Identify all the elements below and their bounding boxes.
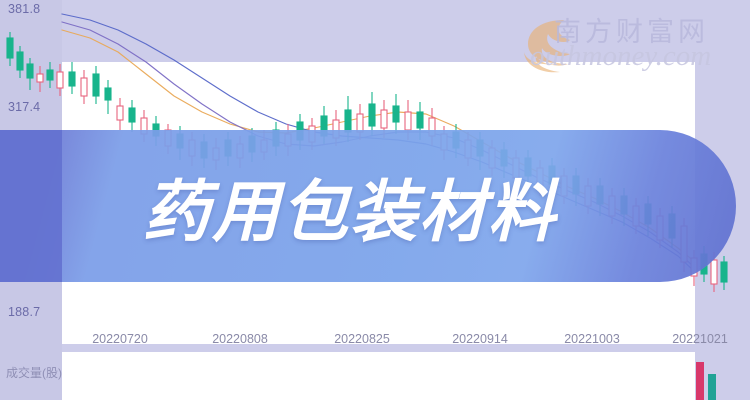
candle xyxy=(57,64,63,96)
candle xyxy=(93,66,99,104)
volume-bar xyxy=(708,374,716,400)
y-tick-label-0: 381.8 xyxy=(8,2,40,16)
x-tick-label-3: 20220914 xyxy=(452,332,508,346)
candle xyxy=(7,32,13,66)
x-tick-label-5: 20221021 xyxy=(672,332,728,346)
x-tick-label-2: 20220825 xyxy=(334,332,390,346)
y-tick-label-3: 188.7 xyxy=(8,305,40,319)
volume-bar xyxy=(696,362,704,400)
x-tick-label-1: 20220808 xyxy=(212,332,268,346)
candle xyxy=(81,70,87,104)
candle xyxy=(47,62,53,88)
y-tick-label-1: 317.4 xyxy=(8,100,40,114)
candle xyxy=(27,58,33,90)
x-tick-label-0: 20220720 xyxy=(92,332,148,346)
candle xyxy=(721,256,727,290)
candle xyxy=(37,66,43,92)
candle xyxy=(393,94,399,134)
candle xyxy=(17,46,23,78)
banner-title-text: 药用包装材料 xyxy=(0,130,700,282)
chart-screenshot: 381.8 317.4 253.0 188.7 20220720 2022080… xyxy=(0,0,750,400)
candle xyxy=(105,80,111,114)
candle xyxy=(117,98,123,130)
volume-panel-label: 成交量(股) xyxy=(6,364,62,381)
candle xyxy=(129,100,135,132)
x-tick-label-4: 20221003 xyxy=(564,332,620,346)
candle xyxy=(69,62,75,94)
